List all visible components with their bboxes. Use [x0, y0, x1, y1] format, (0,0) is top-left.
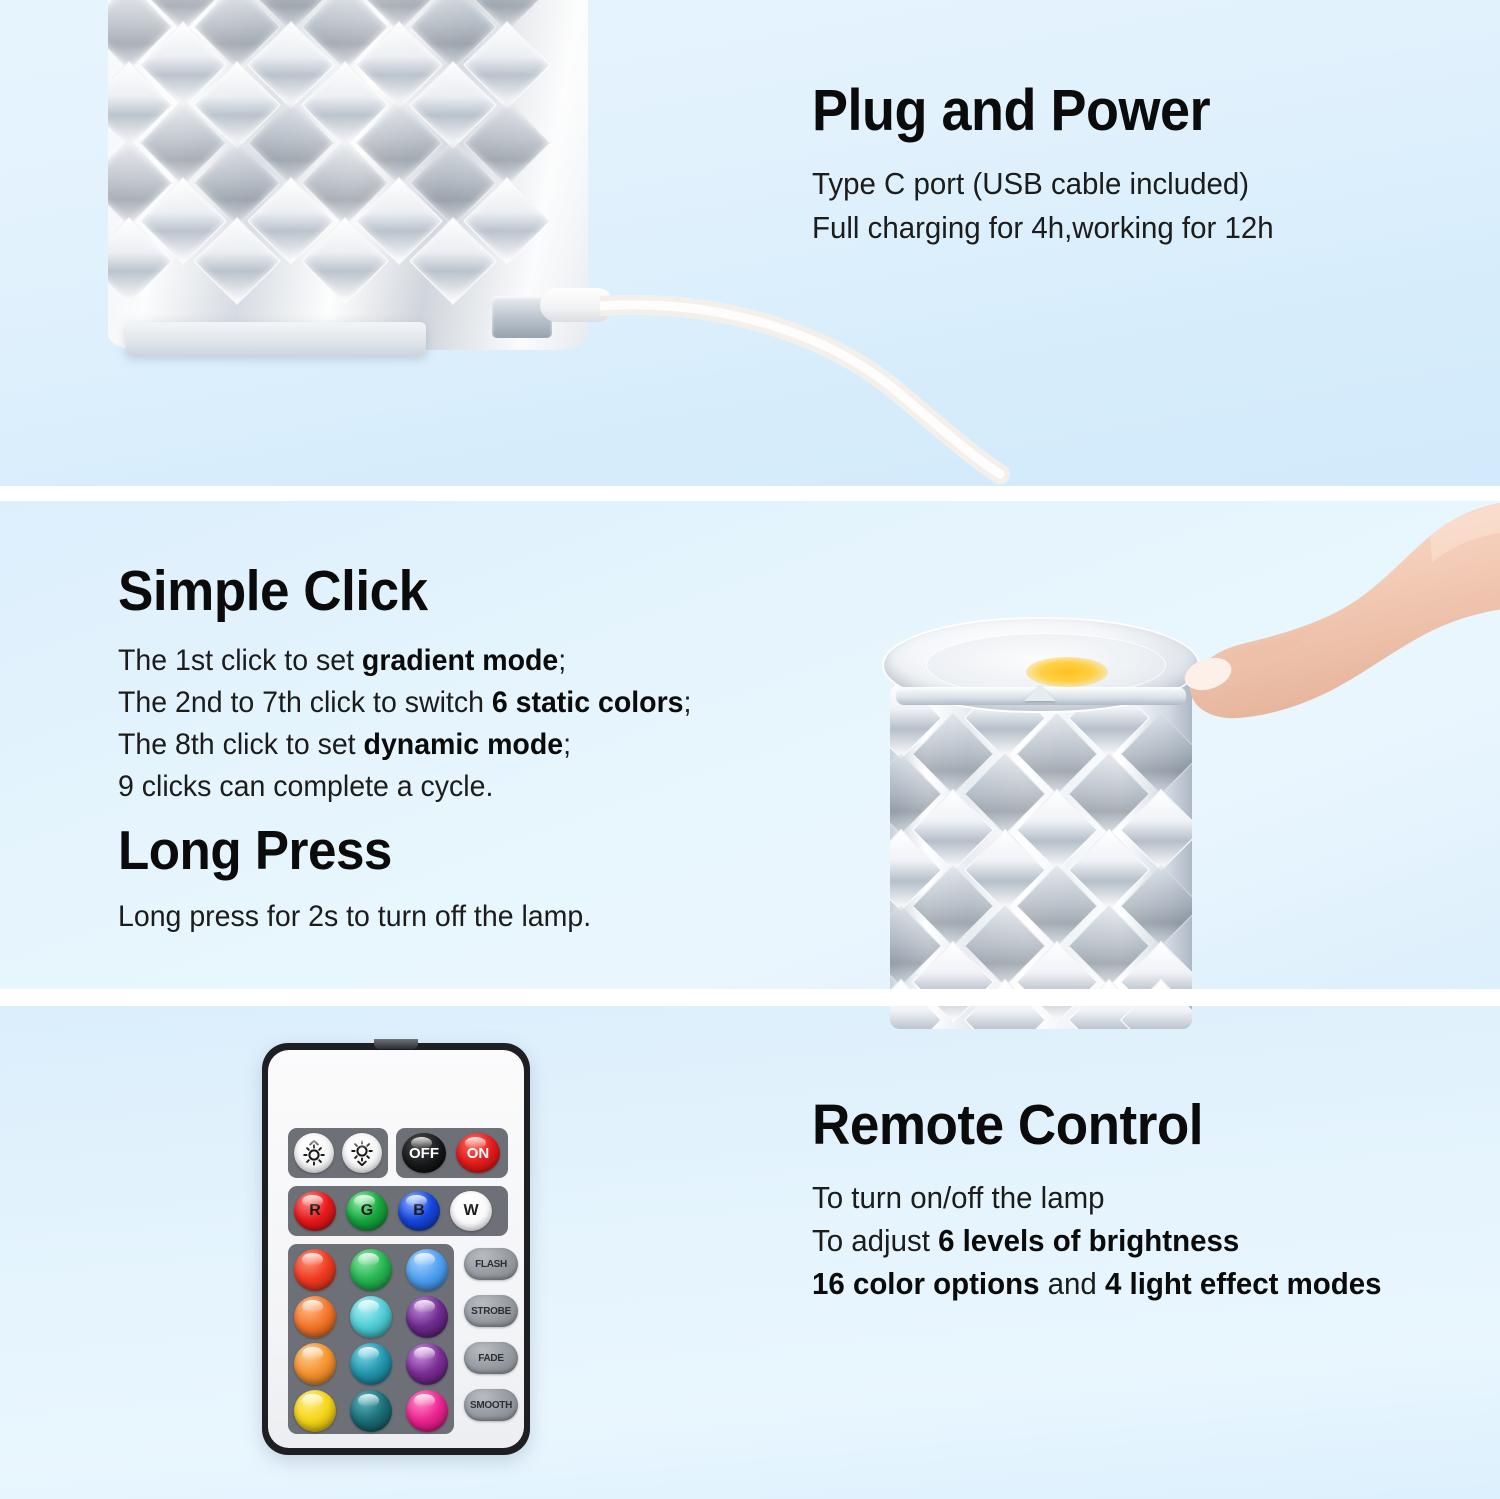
- remote-line2-emphasis: 6 levels of brightness: [938, 1223, 1239, 1258]
- usb-cable-icon: [600, 290, 1300, 488]
- palette-swatch[interactable]: [350, 1343, 392, 1385]
- sun-down-icon: [349, 1140, 375, 1166]
- click-line2-emphasis: 6 static colors: [492, 686, 684, 719]
- click-detail-line-4: 9 clicks can complete a cycle.: [118, 766, 691, 808]
- plug-and-power-text: Plug and Power Type C port (USB cable in…: [812, 78, 1298, 250]
- palette-swatch[interactable]: [294, 1390, 336, 1432]
- section-divider-1: [0, 486, 1500, 501]
- click-line1-post: ;: [558, 644, 566, 677]
- click-detail-line-2: The 2nd to 7th click to switch 6 static …: [118, 682, 691, 724]
- brightness-up-button[interactable]: [294, 1133, 334, 1173]
- remote-control-title: Remote Control: [812, 1092, 1370, 1158]
- palette-swatch[interactable]: [294, 1249, 336, 1291]
- remote-detail-line-3: 16 color options and 4 light effect mode…: [812, 1262, 1382, 1305]
- long-press-text: Long Press Long press for 2s to turn off…: [118, 818, 616, 938]
- click-line1-pre: The 1st click to set: [118, 644, 362, 677]
- effect-button-smooth[interactable]: SMOOTH: [464, 1389, 518, 1421]
- effect-button-fade[interactable]: FADE: [464, 1342, 518, 1374]
- color-button-green[interactable]: G: [346, 1191, 388, 1231]
- effect-button-flash[interactable]: FLASH: [464, 1248, 518, 1280]
- remote-control-text: Remote Control To turn on/off the lamp T…: [812, 1092, 1411, 1305]
- effect-button-strobe[interactable]: STROBE: [464, 1295, 518, 1327]
- palette-swatch[interactable]: [406, 1390, 448, 1432]
- palette-swatch[interactable]: [406, 1343, 448, 1385]
- lamp-base: [126, 322, 426, 356]
- brightness-button-group: [288, 1128, 388, 1178]
- ir-emitter: [374, 1039, 418, 1049]
- long-press-title: Long Press: [118, 818, 581, 882]
- palette-swatch[interactable]: [406, 1249, 448, 1291]
- remote-line3-emphasis-b: 4 light effect modes: [1105, 1266, 1382, 1301]
- remote-line3-emphasis-a: 16 color options: [812, 1266, 1039, 1301]
- brightness-down-button[interactable]: [342, 1133, 382, 1173]
- plug-and-power-title: Plug and Power: [812, 78, 1264, 144]
- plug-detail-line-1: Type C port (USB cable included): [812, 162, 1274, 206]
- sun-up-icon: [301, 1140, 327, 1166]
- section-divider-2: [0, 989, 1500, 1006]
- lamp-indicator-triangle: [1024, 685, 1056, 701]
- remote-line2-pre: To adjust: [812, 1223, 938, 1258]
- click-line2-pre: The 2nd to 7th click to switch: [118, 686, 492, 719]
- hand-pointing-finger-icon: [1130, 488, 1500, 748]
- long-press-detail: Long press for 2s to turn off the lamp.: [118, 896, 591, 938]
- rgbw-button-group: R G B W: [288, 1186, 508, 1236]
- click-line3-post: ;: [563, 728, 571, 761]
- palette-swatch[interactable]: [294, 1343, 336, 1385]
- color-button-blue[interactable]: B: [398, 1191, 440, 1231]
- touch-glow-indicator: [1026, 657, 1108, 687]
- click-detail-line-3: The 8th click to set dynamic mode;: [118, 724, 691, 766]
- section-plug-and-power: Plug and Power Type C port (USB cable in…: [0, 0, 1500, 488]
- simple-click-title: Simple Click: [118, 558, 679, 624]
- power-on-button[interactable]: ON: [456, 1133, 500, 1173]
- power-button-group: OFF ON: [396, 1128, 508, 1178]
- color-button-red[interactable]: R: [294, 1191, 336, 1231]
- color-button-white[interactable]: W: [450, 1191, 492, 1231]
- simple-click-text: Simple Click The 1st click to set gradie…: [118, 558, 722, 808]
- palette-swatch[interactable]: [350, 1296, 392, 1338]
- palette-swatch[interactable]: [350, 1390, 392, 1432]
- remote-control-device[interactable]: OFF ON R G B W: [262, 1043, 530, 1455]
- palette-swatch[interactable]: [294, 1296, 336, 1338]
- remote-detail-line-1: To turn on/off the lamp: [812, 1176, 1382, 1219]
- product-infographic: Plug and Power Type C port (USB cable in…: [0, 0, 1500, 1499]
- click-line1-emphasis: gradient mode: [362, 644, 558, 677]
- click-line2-post: ;: [684, 686, 692, 719]
- palette-swatch[interactable]: [406, 1296, 448, 1338]
- remote-line3-mid: and: [1039, 1266, 1105, 1301]
- remote-faceplate: OFF ON R G B W: [268, 1050, 524, 1448]
- remote-detail-line-2: To adjust 6 levels of brightness: [812, 1219, 1382, 1262]
- color-palette-group: [288, 1244, 454, 1434]
- click-line3-emphasis: dynamic mode: [364, 728, 564, 761]
- palette-swatch[interactable]: [350, 1249, 392, 1291]
- click-line3-pre: The 8th click to set: [118, 728, 364, 761]
- power-off-button[interactable]: OFF: [402, 1133, 446, 1173]
- plug-detail-line-2: Full charging for 4h,working for 12h: [812, 206, 1274, 250]
- click-detail-line-1: The 1st click to set gradient mode;: [118, 640, 691, 682]
